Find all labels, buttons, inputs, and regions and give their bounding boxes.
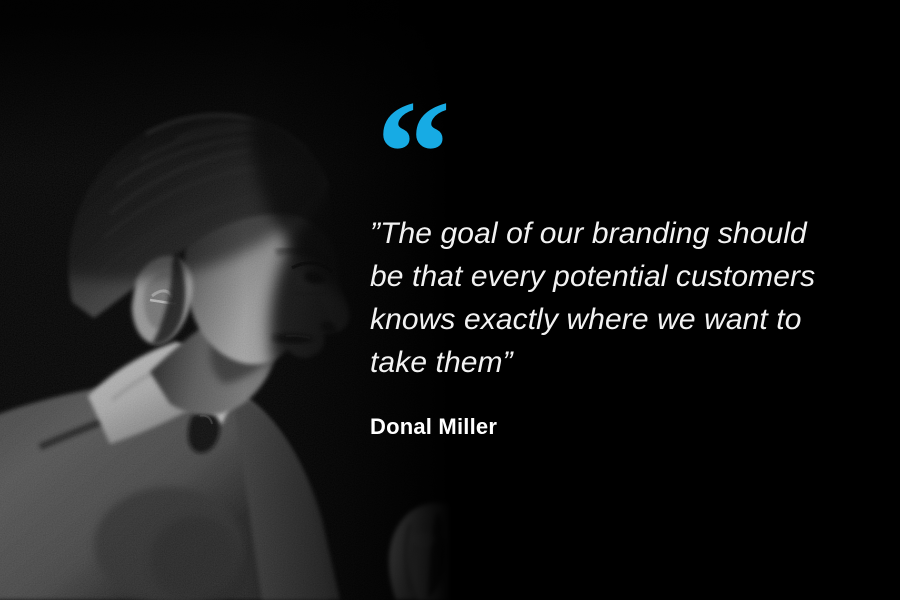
quote-slide: “ ”The goal of our branding should be th… bbox=[0, 0, 900, 600]
quote-block: “ ”The goal of our branding should be th… bbox=[370, 92, 850, 440]
open-quote-icon: “ bbox=[376, 92, 850, 166]
quote-author: Donal Miller bbox=[370, 414, 850, 440]
quote-text: ”The goal of our branding should be that… bbox=[370, 212, 850, 384]
